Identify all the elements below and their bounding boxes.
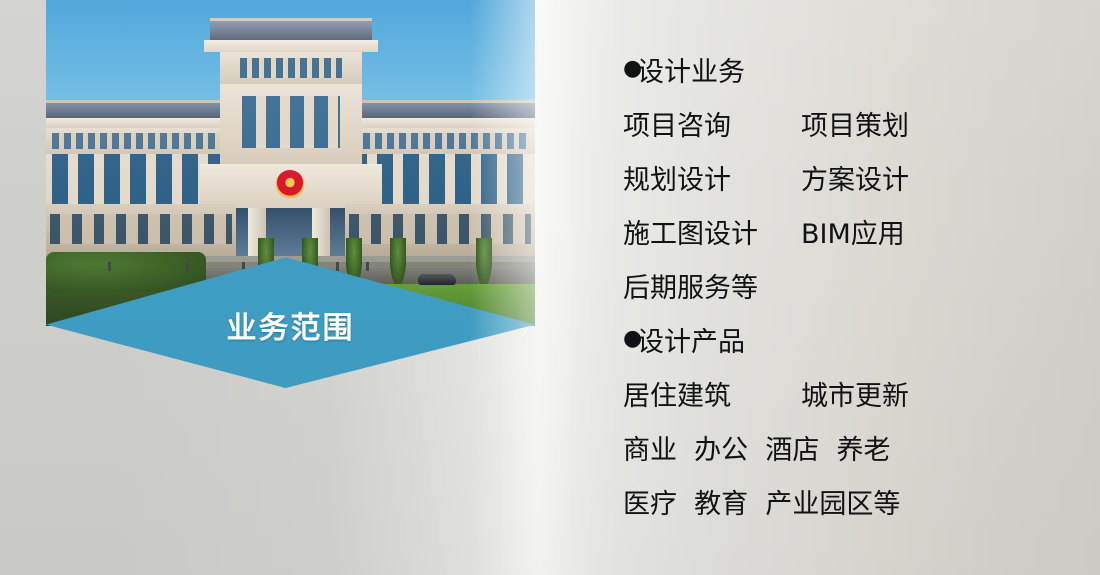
product-item: 居住建筑 <box>623 374 801 413</box>
service-item: BIM应用 <box>801 212 905 251</box>
product-row: 商业 办公 酒店 养老 <box>623 420 1053 474</box>
business-scope-banner-label: 业务范围 <box>46 256 535 388</box>
service-row: 项目咨询 项目策划 <box>623 96 1053 150</box>
product-item: 城市更新 <box>801 374 909 413</box>
product-row: 医疗 教育 产业园区等 <box>623 474 1053 528</box>
service-item: 项目咨询 <box>623 104 801 143</box>
left-podium-base <box>46 204 236 256</box>
right-podium-base <box>345 204 535 256</box>
slide-canvas: 业务范围 ● 设计业务 项目咨询 项目策划 规划设计 方案设计 施工图设计 BI… <box>0 0 1100 575</box>
section-heading-label: 设计业务 <box>637 50 745 89</box>
left-wing-cornice <box>46 118 244 128</box>
service-item: 规划设计 <box>623 158 801 197</box>
right-wing-upper-window-band <box>345 128 535 154</box>
building-central-tower <box>226 18 356 290</box>
bullet-icon: ● <box>623 58 637 80</box>
product-item: 商业 办公 酒店 养老 <box>623 428 891 467</box>
left-wing-upper-window-band <box>46 128 236 154</box>
service-item: 施工图设计 <box>623 212 801 251</box>
section-heading-design-services: ● 设计业务 <box>623 42 1053 96</box>
service-row: 施工图设计 BIM应用 <box>623 204 1053 258</box>
tower-clerestory-band <box>220 52 362 84</box>
service-item: 后期服务等 <box>623 266 801 305</box>
service-item: 方案设计 <box>801 158 909 197</box>
tower-cornice <box>204 40 378 52</box>
right-wing-cornice <box>337 118 535 128</box>
service-item: 项目策划 <box>801 104 909 143</box>
service-row: 规划设计 方案设计 <box>623 150 1053 204</box>
product-item: 医疗 教育 产业园区等 <box>623 482 900 521</box>
section-heading-label: 设计产品 <box>637 320 745 359</box>
product-row: 居住建筑 城市更新 <box>623 366 1053 420</box>
tower-window-grid <box>220 84 362 164</box>
bullet-icon: ● <box>623 328 637 350</box>
business-scope-text-column: ● 设计业务 项目咨询 项目策划 规划设计 方案设计 施工图设计 BIM应用 后… <box>623 42 1053 528</box>
section-heading-design-products: ● 设计产品 <box>623 312 1053 366</box>
national-emblem-icon <box>276 170 304 198</box>
service-row: 后期服务等 <box>623 258 1053 312</box>
